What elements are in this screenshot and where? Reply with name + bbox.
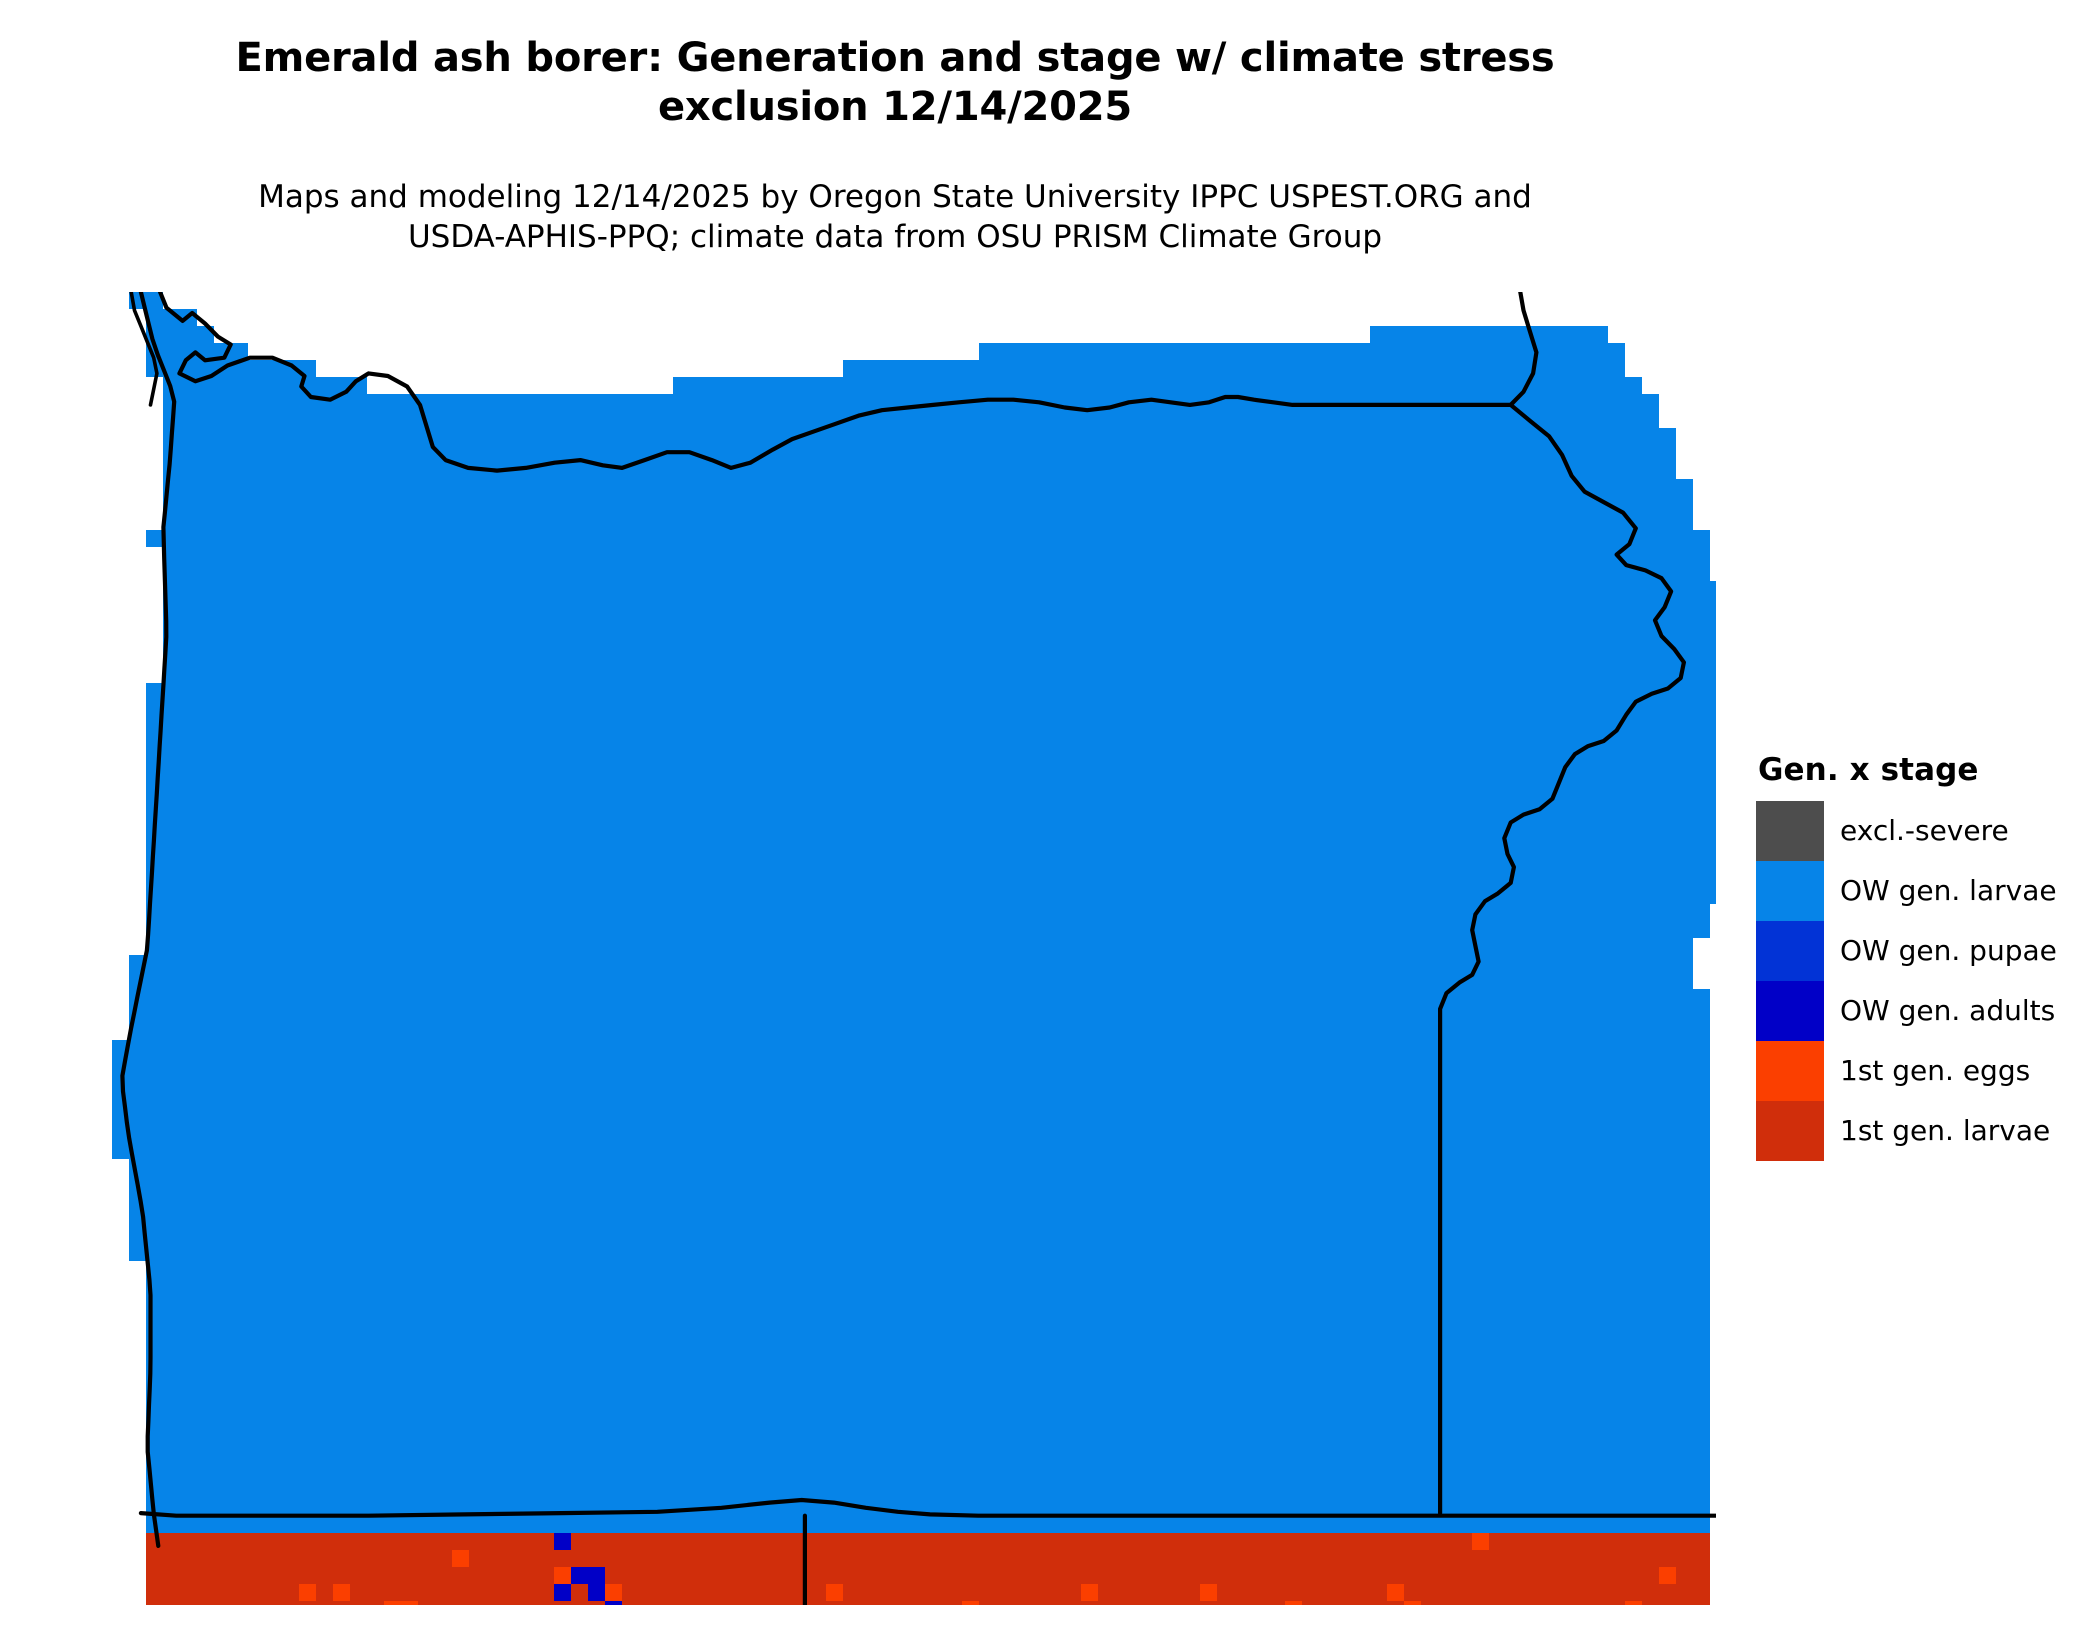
title-line-1: Emerald ash borer: Generation and stage … bbox=[0, 34, 1790, 83]
legend-swatch bbox=[1756, 1041, 1824, 1101]
legend-label: OW gen. larvae bbox=[1840, 877, 2057, 905]
legend-label: 1st gen. larvae bbox=[1840, 1117, 2050, 1145]
legend-item: OW gen. pupae bbox=[1756, 921, 2086, 981]
page-subtitle: Maps and modeling 12/14/2025 by Oregon S… bbox=[0, 178, 1790, 257]
legend-label: excl.-severe bbox=[1840, 817, 2009, 845]
legend-swatch bbox=[1756, 801, 1824, 861]
legend: Gen. x stage excl.-severeOW gen. larvaeO… bbox=[1756, 752, 2086, 1161]
subtitle-line-2: USDA-APHIS-PPQ; climate data from OSU PR… bbox=[0, 218, 1790, 258]
legend-item: OW gen. adults bbox=[1756, 981, 2086, 1041]
legend-swatch bbox=[1756, 921, 1824, 981]
title-line-2: exclusion 12/14/2025 bbox=[0, 83, 1790, 132]
legend-swatch bbox=[1756, 861, 1824, 921]
legend-label: OW gen. adults bbox=[1840, 997, 2055, 1025]
legend-swatch bbox=[1756, 1101, 1824, 1161]
legend-items: excl.-severeOW gen. larvaeOW gen. pupaeO… bbox=[1756, 801, 2086, 1161]
map-page: Emerald ash borer: Generation and stage … bbox=[0, 0, 2100, 1645]
legend-swatch bbox=[1756, 981, 1824, 1041]
legend-item: OW gen. larvae bbox=[1756, 861, 2086, 921]
phenology-raster-map bbox=[112, 292, 1716, 1605]
legend-label: OW gen. pupae bbox=[1840, 937, 2057, 965]
page-title: Emerald ash borer: Generation and stage … bbox=[0, 34, 1790, 132]
legend-label: 1st gen. eggs bbox=[1840, 1057, 2030, 1085]
legend-title: Gen. x stage bbox=[1758, 752, 2086, 788]
legend-item: 1st gen. eggs bbox=[1756, 1041, 2086, 1101]
legend-item: 1st gen. larvae bbox=[1756, 1101, 2086, 1161]
map-figure bbox=[112, 292, 1716, 1605]
legend-item: excl.-severe bbox=[1756, 801, 2086, 861]
subtitle-line-1: Maps and modeling 12/14/2025 by Oregon S… bbox=[0, 178, 1790, 218]
